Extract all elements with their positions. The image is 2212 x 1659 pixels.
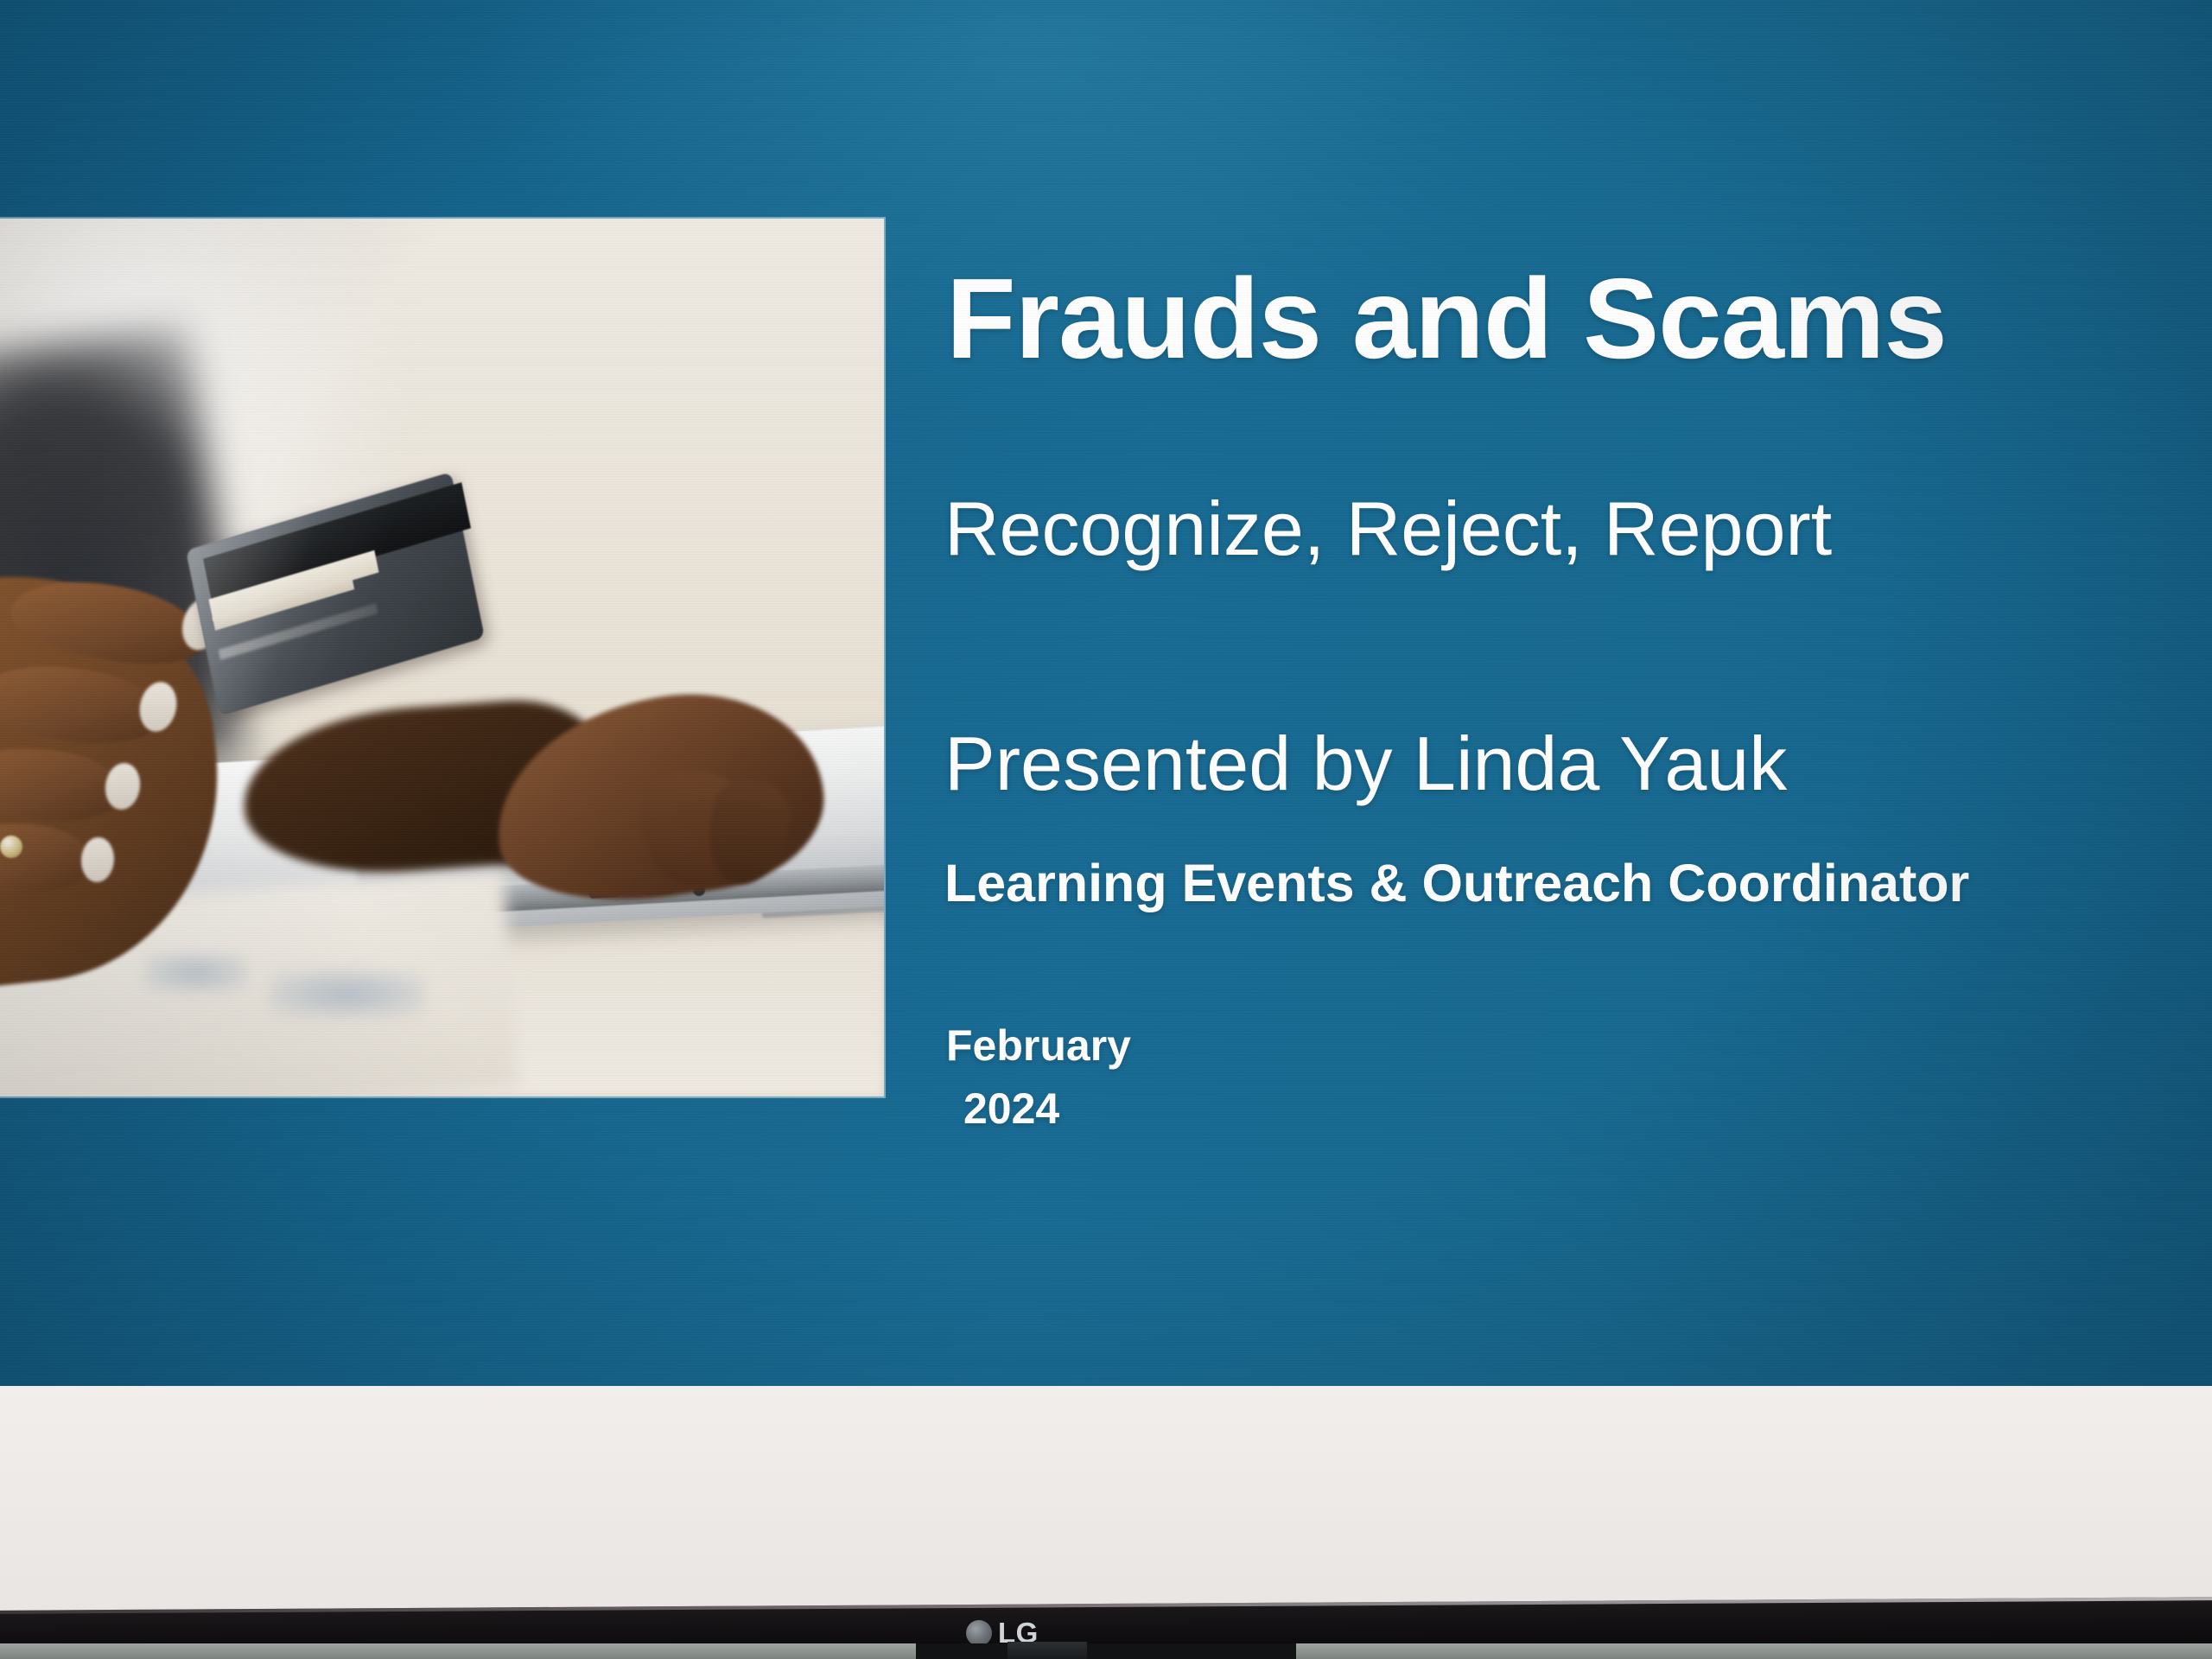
slide-title: Frauds and Scams — [946, 262, 1947, 376]
monitor-stand-neck — [1007, 1642, 1087, 1659]
monitor-stand-shadow — [916, 1643, 1296, 1659]
credit-card-laptop-photo — [0, 219, 884, 1096]
slide-date-year: 2024 — [963, 1087, 1059, 1130]
lg-logo-icon — [966, 1620, 992, 1646]
photo-paper-chart-1 — [144, 953, 248, 993]
slide-footer: Phone: 604-688-1927 Email: info@seniorsf… — [0, 1386, 2212, 1614]
finger-ring — [0, 836, 22, 858]
slide-subtitle: Recognize, Reject, Report — [944, 491, 1832, 567]
slide-background: Frauds and Scams Recognize, Reject, Repo… — [0, 0, 2212, 1386]
photo-paper-chart-2 — [270, 970, 425, 1017]
presenter-name: Presented by Linda Yauk — [944, 726, 1787, 802]
monitor-panel: Frauds and Scams Recognize, Reject, Repo… — [0, 0, 2212, 1614]
photo-inner — [0, 219, 884, 1096]
slide-date-month: February — [946, 1024, 1131, 1067]
screenshot-root: Frauds and Scams Recognize, Reject, Repo… — [0, 0, 2212, 1659]
presenter-role: Learning Events & Outreach Coordinator — [944, 857, 1969, 910]
